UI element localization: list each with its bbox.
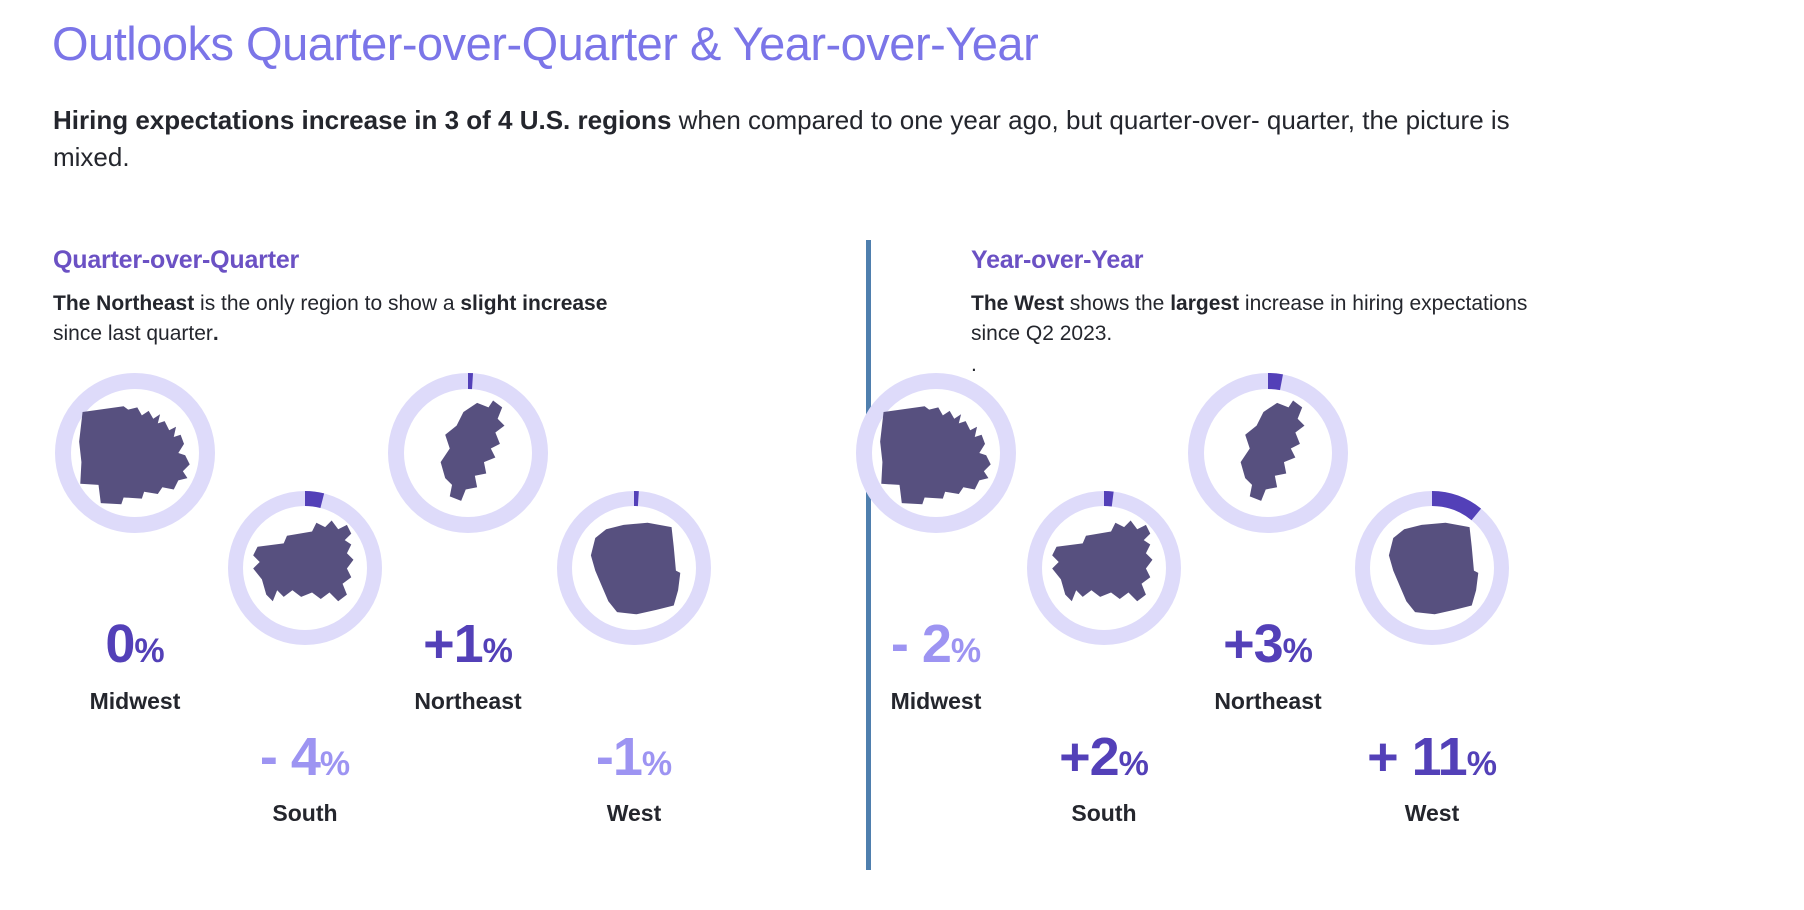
map-shape — [253, 520, 353, 601]
donut-ring-northeast — [1168, 353, 1368, 553]
donut-track — [1196, 381, 1340, 525]
map-south-icon — [251, 514, 360, 623]
region-label-midwest: Midwest — [90, 688, 181, 715]
value-number: 0 — [105, 614, 134, 674]
donut-cell-year-over-year-west: + 11%West — [0, 0, 1804, 910]
value-percent-sign: % — [951, 632, 981, 670]
region-label-west: West — [1405, 800, 1460, 827]
donut-track — [63, 381, 207, 525]
donut-ring-midwest — [35, 353, 235, 553]
map-west-icon — [1378, 514, 1487, 623]
donut-ring-midwest — [836, 353, 1036, 553]
value-percent-sign: % — [483, 632, 513, 670]
value-label-south: - 4% — [260, 730, 350, 784]
region-label-midwest: Midwest — [891, 688, 982, 715]
donut-cell-quarter-over-quarter-south: - 4%South — [0, 0, 1804, 910]
donut-ring-south — [208, 471, 402, 665]
donut-cell-year-over-year-northeast: +3%Northeast — [0, 0, 1804, 910]
region-label-west: West — [607, 800, 662, 827]
map-midwest-icon — [78, 396, 192, 510]
donut-chart-grid: 0%Midwest- 4%South+1%Northeast-1%West- 2… — [0, 0, 1804, 910]
value-percent-sign: % — [320, 745, 350, 783]
region-label-northeast: Northeast — [1214, 688, 1321, 715]
donut-cell-year-over-year-south: +2%South — [0, 0, 1804, 910]
donut-ring-west — [537, 471, 731, 665]
donut-cell-quarter-over-quarter-midwest: 0%Midwest — [0, 0, 1804, 910]
value-percent-sign: % — [642, 745, 672, 783]
map-northeast-icon — [411, 396, 525, 510]
value-number: +3 — [1223, 614, 1283, 674]
donut-value-arc — [1104, 499, 1113, 500]
region-label-south: South — [272, 800, 337, 827]
value-label-northeast: +1% — [423, 617, 513, 671]
value-label-northeast: +3% — [1223, 617, 1313, 671]
donut-cell-quarter-over-quarter-northeast: +1%Northeast — [0, 0, 1804, 910]
donut-ring-northeast — [368, 353, 568, 553]
value-label-midwest: 0% — [105, 617, 164, 671]
donut-ring-west — [1335, 471, 1529, 665]
map-midwest-icon — [879, 396, 993, 510]
donut-track — [864, 381, 1008, 525]
value-percent-sign: % — [1283, 632, 1313, 670]
donut-cell-quarter-over-quarter-west: -1%West — [0, 0, 1804, 910]
value-percent-sign: % — [1119, 745, 1149, 783]
map-south-icon — [1050, 514, 1159, 623]
map-shape — [79, 406, 190, 504]
value-percent-sign: % — [1467, 745, 1497, 783]
value-label-west: -1% — [596, 730, 672, 784]
map-shape — [1052, 520, 1152, 601]
donut-ring-south — [1007, 471, 1201, 665]
value-number: + 11 — [1367, 727, 1467, 787]
donut-value-arc — [1268, 381, 1281, 382]
donut-value-arc — [305, 499, 322, 501]
donut-track — [565, 499, 704, 638]
map-northeast-icon — [1211, 396, 1325, 510]
map-shape — [1241, 401, 1305, 501]
value-number: -1 — [596, 727, 642, 787]
map-west-icon — [580, 514, 689, 623]
region-label-south: South — [1071, 800, 1136, 827]
donut-value-arc — [1432, 499, 1476, 515]
map-shape — [441, 401, 505, 501]
infographic-page: Outlooks Quarter-over-Quarter & Year-ove… — [0, 0, 1804, 910]
donut-track — [1035, 499, 1174, 638]
value-label-west: + 11% — [1367, 730, 1497, 784]
value-number: +2 — [1059, 727, 1119, 787]
region-label-northeast: Northeast — [414, 688, 521, 715]
value-number: +1 — [423, 614, 483, 674]
map-shape — [590, 522, 679, 614]
value-number: - 4 — [260, 727, 320, 787]
map-shape — [880, 406, 991, 504]
value-percent-sign: % — [134, 632, 164, 670]
donut-track — [1363, 499, 1502, 638]
value-number: - 2 — [891, 614, 951, 674]
value-label-south: +2% — [1059, 730, 1149, 784]
value-label-midwest: - 2% — [891, 617, 981, 671]
donut-track — [236, 499, 375, 638]
map-shape — [1388, 522, 1477, 614]
donut-cell-year-over-year-midwest: - 2%Midwest — [0, 0, 1804, 910]
donut-track — [396, 381, 540, 525]
